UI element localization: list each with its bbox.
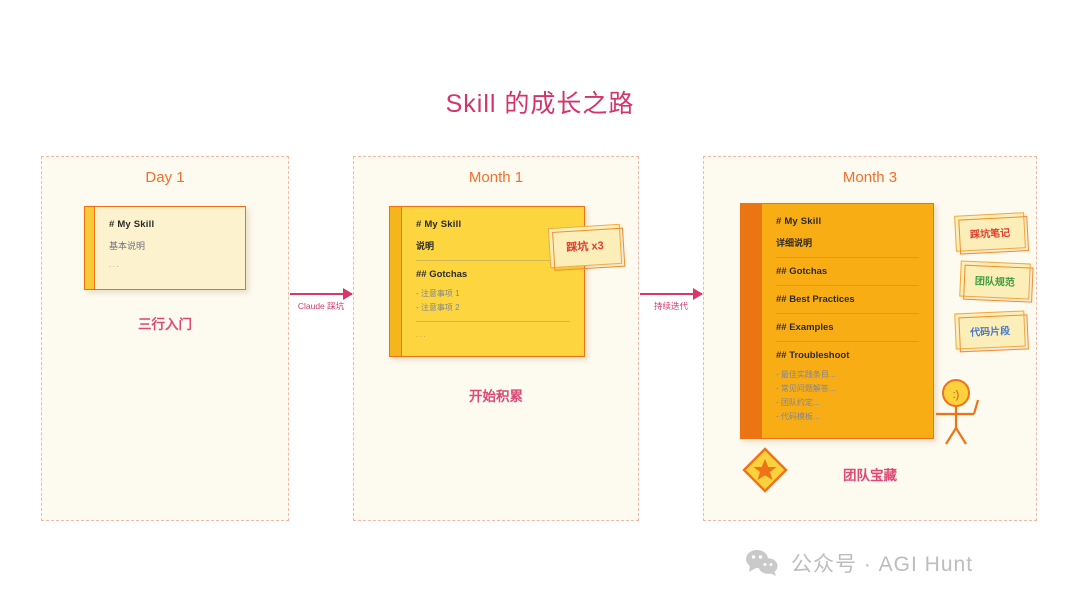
card-divider [416, 321, 570, 322]
card-ellipsis: ... [416, 330, 570, 339]
card-list-item: - 常见问题解答... [776, 383, 919, 394]
stage-caption-day1: 三行入门 [42, 313, 288, 333]
transition-arrow-1: Claude 踩坑 [290, 286, 352, 320]
card-body: # My Skill 详细说明 ## Gotchas ## Best Pract… [762, 204, 933, 438]
skill-card-day1: # My Skill 基本说明 ... [84, 206, 246, 290]
card-list-item: - 注意事项 1 [416, 288, 570, 299]
card-divider [776, 257, 919, 258]
sticky-note-code-snippets: 代码片段 [954, 310, 1026, 349]
sticky-note-gotcha-notes: 踩坑笔记 [954, 212, 1026, 252]
stage-header-month1: Month 1 [354, 169, 638, 186]
wechat-icon [745, 549, 779, 577]
card-divider [776, 313, 919, 314]
card-list-item: - 代码模板... [776, 411, 919, 422]
card-heading: # My Skill [776, 216, 919, 227]
card-divider [776, 285, 919, 286]
transition-arrow-2: 持续迭代 [640, 286, 702, 320]
sticky-note-gotcha-count: 踩坑 x3 [548, 224, 622, 268]
card-section-best-practices: ## Best Practices [776, 294, 919, 305]
page-title: Skill 的成长之路 [0, 84, 1080, 120]
sticky-note-team-standards: 团队规范 [959, 260, 1031, 299]
card-spine [85, 207, 95, 289]
card-spine [390, 207, 402, 356]
arrow-label-1: Claude 踩坑 [290, 300, 352, 312]
card-subtitle: 详细说明 [776, 236, 919, 249]
stage-header-month3: Month 3 [704, 169, 1036, 186]
card-heading: # My Skill [109, 219, 231, 230]
card-subtitle: 说明 [416, 239, 570, 252]
card-section-gotchas: ## Gotchas [416, 269, 570, 280]
card-body: # My Skill 基本说明 ... [95, 207, 245, 289]
treasure-star-badge-icon [742, 447, 788, 493]
watermark: 公众号 · AGI Hunt [745, 544, 973, 582]
stage-caption-month1: 开始积累 [354, 385, 638, 405]
arrow-label-2: 持续迭代 [640, 300, 702, 312]
card-list-item: - 最佳实践条目... [776, 369, 919, 380]
arrow-head-icon [693, 288, 703, 300]
card-spine [741, 204, 762, 438]
card-section-examples: ## Examples [776, 322, 919, 333]
card-subtitle: 基本说明 [109, 239, 231, 252]
card-divider [416, 260, 570, 261]
watermark-text: 公众号 · AGI Hunt [791, 548, 973, 578]
stick-figure-face: :) [953, 389, 960, 401]
stage-header-day1: Day 1 [42, 169, 288, 186]
arrow-head-icon [343, 288, 353, 300]
stick-figure-person-icon: :) [934, 378, 990, 446]
card-section-troubleshoot: ## Troubleshoot [776, 350, 919, 361]
card-divider [776, 341, 919, 342]
card-list-item: - 团队约定... [776, 397, 919, 408]
card-list-item: - 注意事项 2 [416, 302, 570, 313]
skill-card-month3: # My Skill 详细说明 ## Gotchas ## Best Pract… [740, 203, 934, 439]
card-section-gotchas: ## Gotchas [776, 266, 919, 277]
card-ellipsis: ... [109, 260, 231, 269]
